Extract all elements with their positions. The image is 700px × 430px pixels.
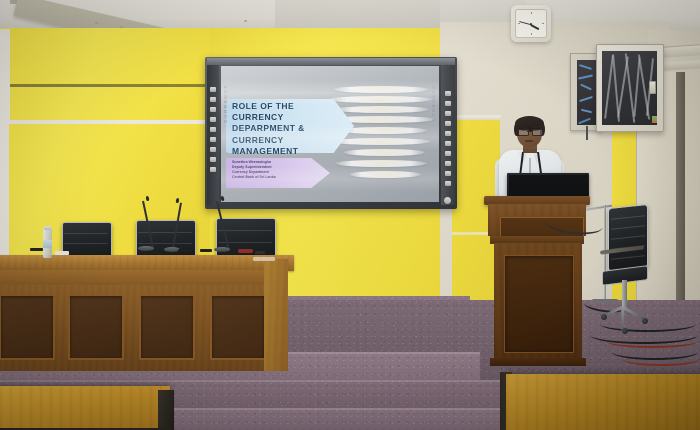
slide-title: ROLE OF THE CURRENCY DEPARPMENT & CURREN… <box>232 101 344 157</box>
eyeglasses <box>518 129 541 134</box>
office-chair-caster <box>642 318 648 324</box>
slide-side-text-left: CURRENCY <box>223 84 228 123</box>
clock-center-pin <box>530 23 532 25</box>
screen-button[interactable] <box>445 151 451 156</box>
office-chair-caster <box>601 314 607 320</box>
office-chair-leg <box>622 306 644 319</box>
screen-button[interactable] <box>445 171 451 176</box>
chair-rib <box>611 255 646 260</box>
chair-rib <box>611 235 646 240</box>
slide-side-text-right: CURRENCY <box>431 86 436 123</box>
slide-content: ROLE OF THE CURRENCY DEPARPMENT & CURREN… <box>221 66 439 202</box>
wall-trim-upper <box>0 29 10 121</box>
chair-seam <box>64 243 108 244</box>
coin <box>335 160 427 167</box>
cabinet-cable <box>580 84 592 91</box>
screen-button[interactable] <box>445 111 451 116</box>
chair-rib <box>611 215 646 220</box>
desk-item-dark[interactable] <box>255 251 265 254</box>
coin <box>335 106 429 113</box>
wall-clock <box>511 5 551 42</box>
head-table-panel <box>210 294 266 360</box>
cabinet-cable <box>579 64 592 70</box>
desk-item-red[interactable] <box>238 249 253 253</box>
screen-button[interactable] <box>445 91 451 96</box>
screen-surface: ROLE OF THE CURRENCY DEPARPMENT & CURREN… <box>221 66 439 202</box>
microphone-base[interactable] <box>138 246 154 251</box>
head-table-right-end <box>264 259 288 371</box>
cabinet-status-led <box>652 116 657 123</box>
presenter-eyebrow-left <box>519 126 527 128</box>
floor-cable-red <box>622 352 700 366</box>
clock-tick <box>518 23 520 24</box>
cabinet-cable <box>578 74 593 79</box>
office-chair[interactable] <box>596 206 656 334</box>
office-chair-caster <box>622 328 628 334</box>
presenter-eyebrow-right <box>532 126 540 128</box>
coin <box>349 171 421 178</box>
projection-screen: ROLE OF THE CURRENCY DEPARPMENT & CURREN… <box>205 57 457 209</box>
laptop-screen <box>509 175 588 196</box>
chair-rib <box>611 225 646 230</box>
cabinet-handle[interactable] <box>649 81 656 94</box>
clock-tick <box>542 23 544 24</box>
screen-button[interactable] <box>210 87 216 92</box>
microphone-base[interactable] <box>214 247 230 252</box>
podium-lower-body <box>494 243 582 361</box>
eyeglass-bridge <box>527 131 532 132</box>
screen-button[interactable] <box>210 127 216 132</box>
eyeglass-lens-right <box>532 129 543 136</box>
coin <box>331 138 431 145</box>
head-table-apron <box>0 270 286 286</box>
screen-button[interactable] <box>445 131 451 136</box>
head-table-body <box>0 285 280 371</box>
screen-button[interactable] <box>445 161 451 166</box>
foreground-table-left-edge <box>158 390 174 430</box>
screen-button[interactable] <box>210 147 216 152</box>
chair-seam <box>138 232 191 233</box>
presenter-mouth <box>525 140 533 142</box>
screen-button[interactable] <box>445 141 451 146</box>
cabinet-hanging-wire <box>586 126 588 140</box>
podium-base <box>490 358 586 366</box>
cabinet-cable <box>581 109 592 114</box>
screen-frame-top-bar <box>207 58 455 65</box>
cabinet-interior <box>577 60 598 125</box>
clock-face <box>515 9 547 38</box>
coin <box>333 86 429 93</box>
head-table-panel <box>139 294 195 360</box>
ceiling-mark <box>244 20 247 22</box>
screen-button[interactable] <box>445 101 451 106</box>
screen-button[interactable] <box>445 121 451 126</box>
paper-sheet[interactable] <box>253 257 275 261</box>
wall-trim-mid <box>0 120 209 124</box>
screen-button[interactable] <box>210 97 216 102</box>
ceiling-beam <box>275 0 450 30</box>
network-cabinet <box>570 40 667 132</box>
foreground-table-left <box>0 386 170 430</box>
water-bottle-label <box>43 240 52 248</box>
head-table-panel <box>0 294 55 360</box>
office-chair-backrest <box>608 204 648 272</box>
desk-item-dark[interactable] <box>200 249 212 252</box>
water-bottle-cap <box>44 226 51 230</box>
screen-right-control-strip <box>441 65 455 205</box>
desk-item-dark[interactable] <box>178 249 192 252</box>
screen-button[interactable] <box>210 117 216 122</box>
conference-room-photo: ROLE OF THE CURRENCY DEPARPMENT & CURREN… <box>0 0 700 430</box>
screen-left-control-strip <box>207 65 219 205</box>
chair-left[interactable] <box>62 222 110 256</box>
slide-subtitle-line-4: Central Bank of Sri Lanka <box>232 175 330 180</box>
remote-control[interactable] <box>30 248 43 251</box>
chair-seam <box>218 230 271 231</box>
paper-sheet[interactable] <box>55 251 69 255</box>
office-chair-gas-post <box>622 280 627 308</box>
chair-seam <box>64 233 108 234</box>
screen-button[interactable] <box>210 167 216 172</box>
clock-hour-hand <box>531 24 540 30</box>
ceiling-mark <box>95 22 98 24</box>
clock-tick <box>531 33 532 35</box>
cabinet-cable <box>579 96 593 102</box>
laptop-on-podium[interactable] <box>507 173 589 197</box>
screen-button[interactable] <box>210 107 216 112</box>
wall-trim-shadow <box>0 84 208 87</box>
clock-tick <box>531 12 532 14</box>
foreground-table-right <box>506 374 700 430</box>
coin <box>343 149 425 156</box>
screen-button[interactable] <box>210 157 216 162</box>
head-table-panel <box>68 294 124 360</box>
chair-seam <box>138 243 191 244</box>
screen-button[interactable] <box>210 137 216 142</box>
cabinet-main-enclosure <box>596 44 664 132</box>
screen-power-button[interactable] <box>444 197 451 204</box>
cabinet-cable <box>578 118 591 125</box>
podium-front-panel <box>504 255 574 353</box>
screen-button[interactable] <box>445 181 451 186</box>
head-table <box>0 255 294 373</box>
chair-backrest <box>62 222 112 258</box>
step-edge <box>0 380 560 382</box>
chair-backrest <box>136 220 196 258</box>
